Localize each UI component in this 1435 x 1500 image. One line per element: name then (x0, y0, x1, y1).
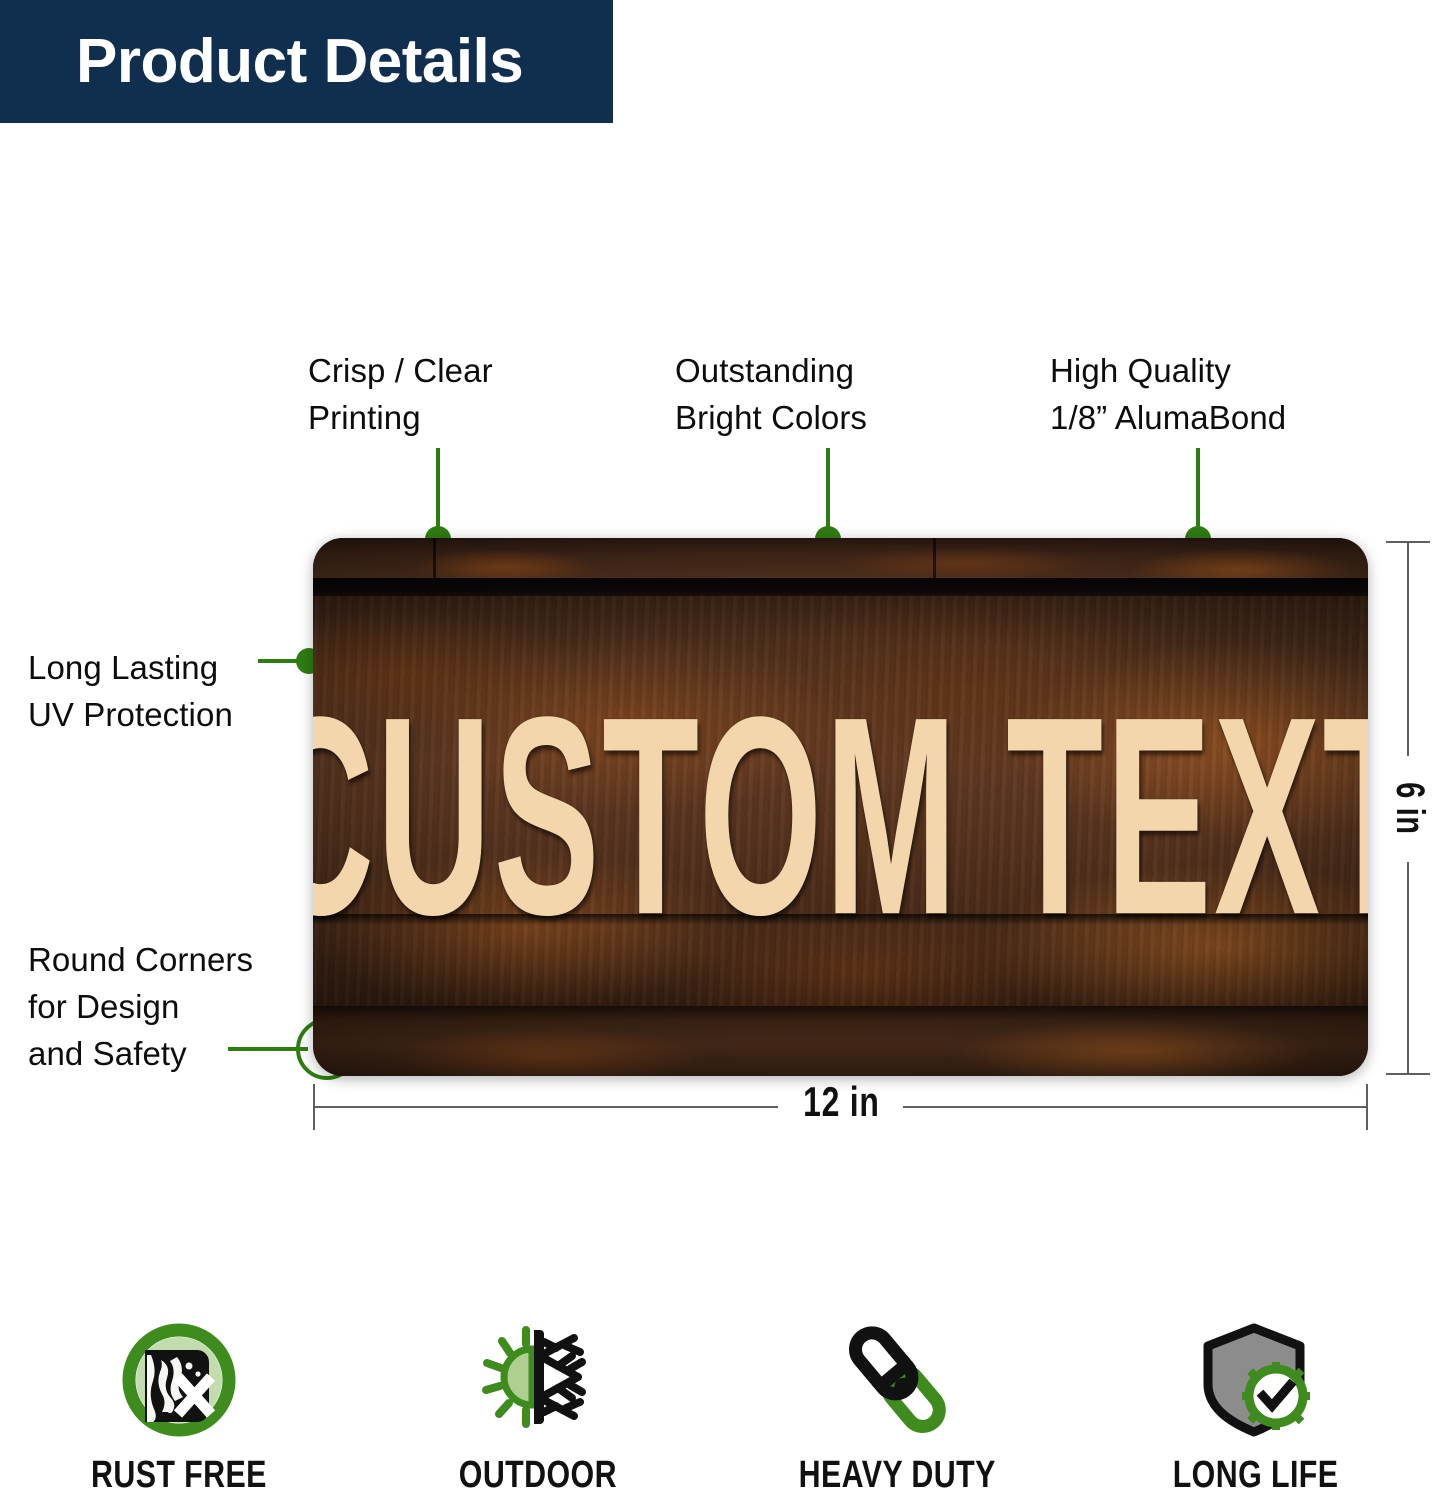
chain-link-icon (833, 1322, 961, 1446)
dimension-line-width-right (903, 1106, 1368, 1108)
header-banner: Product Details (0, 0, 613, 123)
callout-long-lasting-uv-protection: Long Lasting UV Protection (28, 645, 233, 739)
callout-outstanding-bright-colors: Outstanding Bright Colors (675, 348, 867, 442)
rust-free-icon (115, 1322, 243, 1446)
feature-badge-row: RUST FREE (0, 1322, 1435, 1500)
feature-badge-rust-free: RUST FREE (0, 1322, 359, 1497)
sign-text-container: CUSTOM TEXT (313, 538, 1368, 1076)
dimension-label-width: 12 in (778, 1078, 904, 1126)
feature-badge-label: OUTDOOR (459, 1454, 617, 1497)
dimension-cap-right (1366, 1084, 1368, 1130)
feature-badge-label: HEAVY DUTY (798, 1454, 995, 1497)
dimension-line-width-left (313, 1106, 778, 1108)
callout-high-quality-alumabond: High Quality 1/8” AlumaBond (1050, 348, 1286, 442)
shield-clock-check-icon (1192, 1322, 1320, 1446)
dimension-line-height-lower (1407, 862, 1409, 1074)
dimension-line-height-upper (1407, 541, 1409, 756)
product-sign-preview: CUSTOM TEXT (313, 538, 1368, 1076)
dimension-label-height: 6 in (1374, 748, 1435, 868)
dimension-label-width-text: 12 in (803, 1078, 880, 1126)
feature-badge-long-life: LONG LIFE (1076, 1322, 1435, 1497)
callout-round-corners: Round Corners for Design and Safety (28, 937, 253, 1078)
feature-badge-heavy-duty: HEAVY DUTY (718, 1322, 1077, 1497)
sign-custom-text: CUSTOM TEXT (313, 701, 1368, 932)
feature-badge-label: LONG LIFE (1173, 1454, 1339, 1497)
product-details-infographic: Product Details Crisp / Clear Printing O… (0, 0, 1435, 1500)
callout-crisp-clear-printing: Crisp / Clear Printing (308, 348, 493, 442)
sun-snowflake-icon (474, 1322, 602, 1446)
dimension-label-height-text: 6 in (1387, 782, 1432, 834)
page-title: Product Details (0, 31, 523, 93)
dimension-cap-bottom (1386, 1073, 1430, 1075)
feature-badge-label: RUST FREE (91, 1454, 267, 1497)
feature-badge-outdoor: OUTDOOR (359, 1322, 718, 1497)
